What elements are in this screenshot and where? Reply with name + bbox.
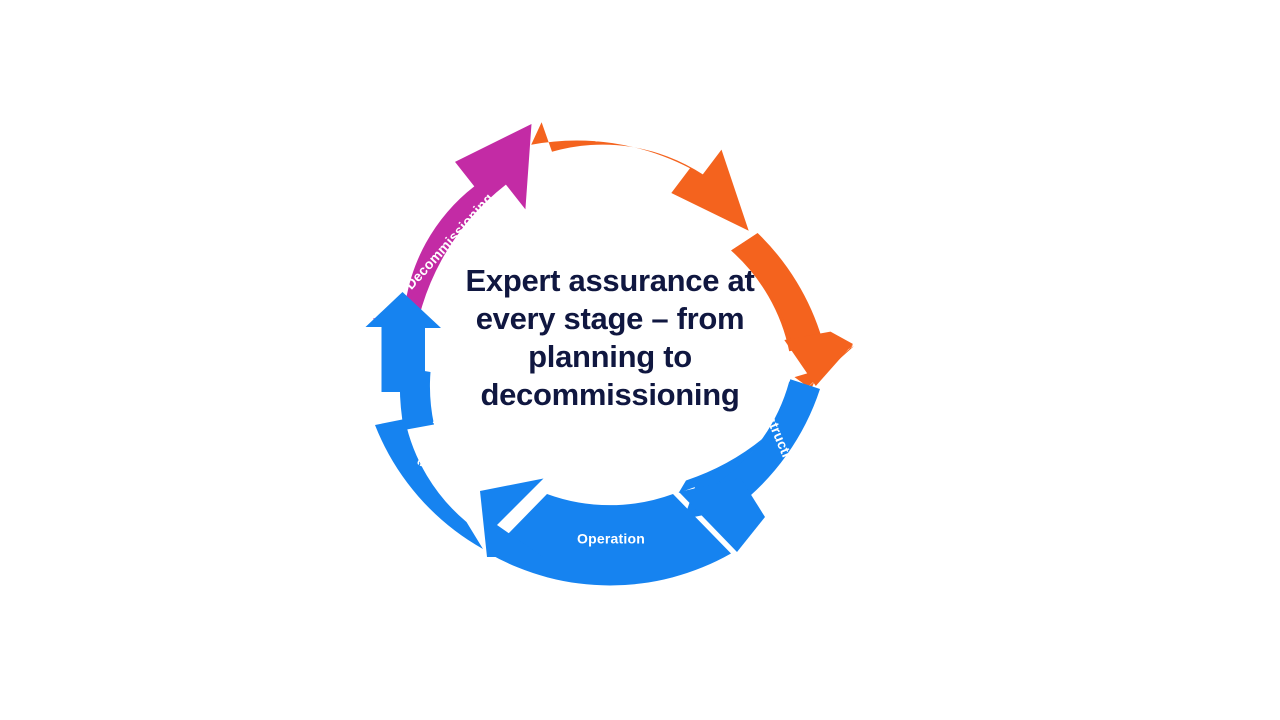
segment-planning[interactable]: Planning: [531, 122, 749, 231]
center-statement: Expert assurance at every stage – from p…: [440, 262, 780, 414]
segment-planning-label: Planning: [595, 129, 656, 145]
segment-design-arrowhead: [784, 332, 853, 386]
segment-operation-label: Operation: [577, 531, 645, 547]
diagram-canvas: Decommissioning Planning Design Construc…: [0, 0, 1280, 720]
